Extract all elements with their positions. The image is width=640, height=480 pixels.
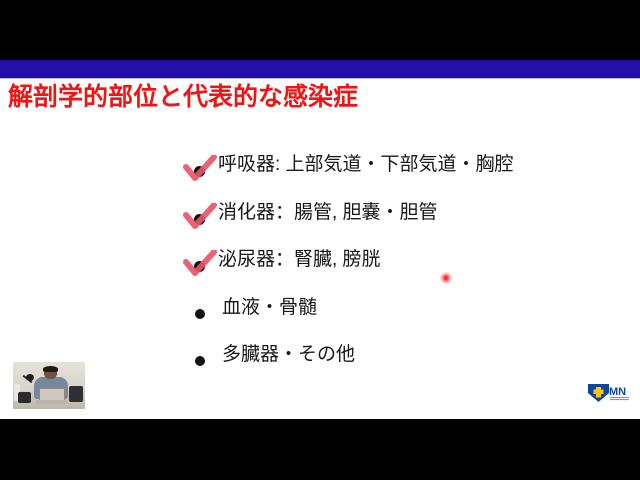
bullet-dot-icon bbox=[195, 356, 205, 366]
list-item-label: 血液・骨髄 bbox=[222, 295, 317, 321]
check-bullet-marker bbox=[183, 253, 217, 279]
webcam-laptop-base bbox=[36, 400, 67, 404]
list-item: 多臓器・その他 bbox=[183, 342, 613, 390]
title-band-underline bbox=[0, 78, 640, 79]
presenter-webcam[interactable] bbox=[13, 362, 85, 409]
check-bullet-marker bbox=[183, 158, 217, 184]
mn-shield-logo: MN bbox=[587, 382, 631, 404]
dot-bullet-marker bbox=[183, 348, 217, 374]
bullet-dot-icon bbox=[194, 166, 205, 177]
check-bullet-marker bbox=[183, 206, 217, 232]
bullet-dot-icon bbox=[194, 261, 205, 272]
title-band bbox=[0, 60, 640, 78]
bullet-dot-icon bbox=[195, 309, 205, 319]
bullet-dot-icon bbox=[194, 214, 205, 225]
list-item-label: 多臓器・その他 bbox=[222, 342, 355, 368]
laser-pointer-dot bbox=[440, 272, 452, 284]
presentation-slide: 解剖学的部位と代表的な感染症 呼吸器: 上部気道・下部気道・胸腔 bbox=[0, 60, 640, 419]
bullet-list: 呼吸器: 上部気道・下部気道・胸腔 消化器：腸管, 胆嚢・胆管 bbox=[183, 152, 613, 390]
list-item: 血液・骨髄 bbox=[183, 295, 613, 343]
list-item: 呼吸器: 上部気道・下部気道・胸腔 bbox=[183, 152, 613, 200]
webcam-presenter-hair bbox=[43, 366, 58, 372]
list-item-label: 泌尿器：腎臓, 膀胱 bbox=[218, 247, 381, 273]
list-item: 消化器：腸管, 胆嚢・胆管 bbox=[183, 200, 613, 248]
list-item: 泌尿器：腎臓, 膀胱 bbox=[183, 247, 613, 295]
webcam-monitor bbox=[69, 386, 83, 402]
svg-text:MN: MN bbox=[609, 386, 626, 398]
video-player-stage: 解剖学的部位と代表的な感染症 呼吸器: 上部気道・下部気道・胸腔 bbox=[0, 0, 640, 480]
dot-bullet-marker bbox=[183, 301, 217, 327]
list-item-label: 消化器：腸管, 胆嚢・胆管 bbox=[218, 200, 438, 226]
webcam-mic-icon bbox=[26, 374, 34, 381]
list-item-label: 呼吸器: 上部気道・下部気道・胸腔 bbox=[218, 152, 514, 178]
page-title: 解剖学的部位と代表的な感染症 bbox=[8, 85, 358, 110]
webcam-mic-base bbox=[18, 392, 31, 403]
